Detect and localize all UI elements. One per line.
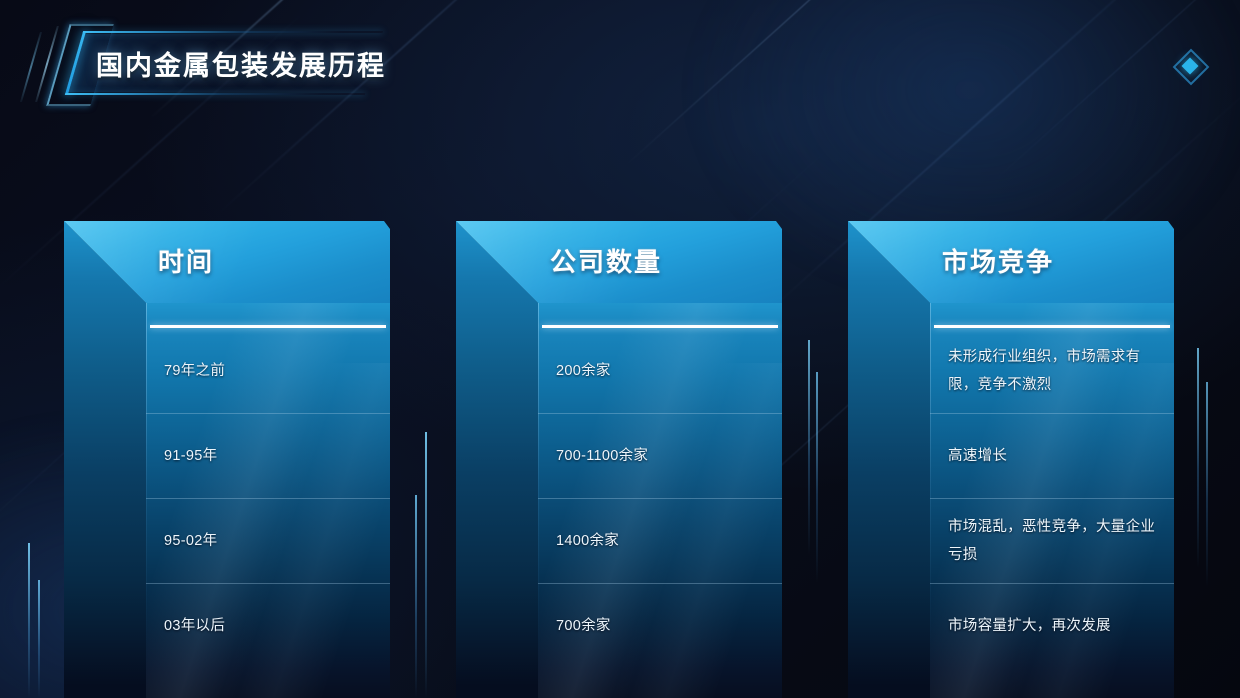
accent-vline	[808, 340, 810, 555]
streak	[626, 0, 1013, 165]
front-left-highlight	[538, 303, 539, 698]
accent-vline	[28, 543, 30, 698]
cell-text: 市场混乱，恶性竞争，大量企业亏损	[948, 513, 1160, 569]
front-left-highlight	[146, 303, 147, 698]
front-left-highlight	[930, 303, 931, 698]
cell-text: 1400余家	[556, 528, 619, 554]
streak	[994, 0, 1240, 181]
table-row[interactable]: 700-1100余家	[538, 413, 782, 498]
title-frame-bottom-edge	[65, 93, 366, 95]
cell-text: 200余家	[556, 358, 611, 384]
cell-text: 91-95年	[164, 443, 217, 469]
table-row[interactable]: 1400余家	[538, 498, 782, 583]
cell-text: 700-1100余家	[556, 443, 648, 469]
diamond-icon	[1176, 52, 1208, 84]
cell-list: 200余家 700-1100余家 1400余家 700余家	[538, 328, 782, 698]
column-front-face: 200余家 700-1100余家 1400余家 700余家	[538, 303, 782, 698]
accent-vline	[1206, 382, 1208, 587]
column-header-label: 市场竞争	[942, 242, 1054, 279]
accent-vline	[1197, 348, 1199, 568]
column-front-face: 未形成行业组织，市场需求有限，竞争不激烈 高速增长 市场混乱，恶性竞争，大量企业…	[930, 303, 1174, 698]
column-side-face	[456, 221, 538, 698]
cell-text: 市场容量扩大，再次发展	[948, 613, 1111, 639]
header-strip	[930, 303, 1174, 324]
accent-vline	[425, 432, 427, 698]
table-row[interactable]: 700余家	[538, 583, 782, 668]
slide-canvas: 国内金属包装发展历程 时间 79年之前 91-95年 95-02年 0	[0, 0, 1240, 698]
table-row[interactable]: 市场混乱，恶性竞争，大量企业亏损	[930, 498, 1174, 583]
column-side-face	[848, 221, 930, 698]
title-frame-top-edge	[83, 31, 384, 33]
cell-text: 03年以后	[164, 613, 225, 639]
header-strip	[538, 303, 782, 324]
cell-list: 未形成行业组织，市场需求有限，竞争不激烈 高速增长 市场混乱，恶性竞争，大量企业…	[930, 328, 1174, 698]
cell-text: 高速增长	[948, 443, 1007, 469]
header-strip	[146, 303, 390, 324]
accent-vline	[415, 495, 417, 698]
table-row[interactable]: 91-95年	[146, 413, 390, 498]
table-row[interactable]: 200余家	[538, 328, 782, 413]
cell-text: 79年之前	[164, 358, 225, 384]
table-row[interactable]: 未形成行业组织，市场需求有限，竞争不激烈	[930, 328, 1174, 413]
table-row[interactable]: 03年以后	[146, 583, 390, 668]
column-header-label: 公司数量	[550, 242, 662, 279]
cell-text: 700余家	[556, 613, 611, 639]
accent-vline	[816, 372, 818, 582]
cell-text: 95-02年	[164, 528, 217, 554]
column-front-face: 79年之前 91-95年 95-02年 03年以后	[146, 303, 390, 698]
page-title: 国内金属包装发展历程	[96, 44, 386, 83]
cell-list: 79年之前 91-95年 95-02年 03年以后	[146, 328, 390, 698]
column-side-face	[64, 221, 146, 698]
title-block: 国内金属包装发展历程	[0, 0, 640, 120]
table-row[interactable]: 95-02年	[146, 498, 390, 583]
table-row[interactable]: 市场容量扩大，再次发展	[930, 583, 1174, 668]
cell-text: 未形成行业组织，市场需求有限，竞争不激烈	[948, 343, 1160, 399]
column-header-label: 时间	[158, 242, 214, 279]
table-row[interactable]: 高速增长	[930, 413, 1174, 498]
accent-vline	[38, 580, 40, 698]
table-row[interactable]: 79年之前	[146, 328, 390, 413]
